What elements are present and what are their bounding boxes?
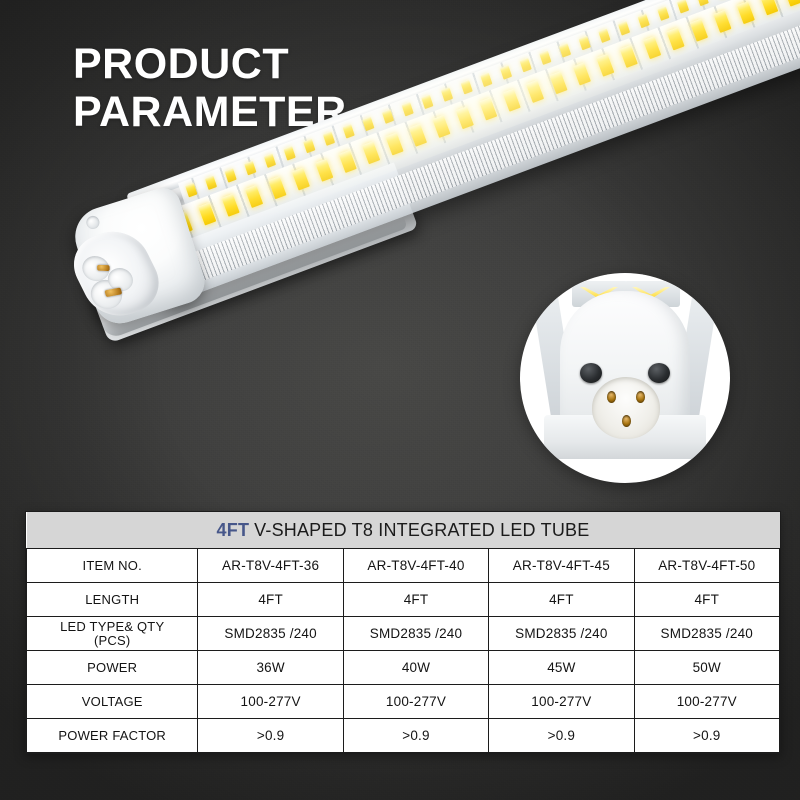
row-value: 4FT (198, 583, 343, 617)
socket-contact-hole (607, 391, 616, 403)
row-label: LED TYPE& QTY (PCS) (27, 617, 198, 651)
row-value: SMD2835 /240 (343, 617, 488, 651)
table-row: POWER 36W 40W 45W 50W (27, 651, 780, 685)
table-row: LENGTH 4FT 4FT 4FT 4FT (27, 583, 780, 617)
table-row: VOLTAGE 100-277V 100-277V 100-277V 100-2… (27, 685, 780, 719)
table-row: POWER FACTOR >0.9 >0.9 >0.9 >0.9 (27, 719, 780, 753)
table-title-cell: 4FTV-SHAPED T8 INTEGRATED LED TUBE (27, 512, 780, 549)
socket-contact-hole (622, 415, 631, 427)
row-value: SMD2835 /240 (489, 617, 634, 651)
row-value: 40W (343, 651, 488, 685)
row-label: VOLTAGE (27, 685, 198, 719)
specification-table: 4FTV-SHAPED T8 INTEGRATED LED TUBE ITEM … (25, 511, 781, 754)
row-label: ITEM NO. (27, 549, 198, 583)
detail-inset-circle (520, 273, 730, 483)
inset-screw (580, 363, 602, 383)
row-value: 100-277V (634, 685, 779, 719)
row-label: LENGTH (27, 583, 198, 617)
row-value: >0.9 (343, 719, 488, 753)
table-row: LED TYPE& QTY (PCS) SMD2835 /240 SMD2835… (27, 617, 780, 651)
inset-screw (648, 363, 670, 383)
row-value: AR-T8V-4FT-45 (489, 549, 634, 583)
row-value: 100-277V (198, 685, 343, 719)
table-row: ITEM NO. AR-T8V-4FT-36 AR-T8V-4FT-40 AR-… (27, 549, 780, 583)
product-parameter-page: PRODUCT PARAMETER (0, 0, 800, 800)
socket-contact-hole (636, 391, 645, 403)
row-value: >0.9 (634, 719, 779, 753)
row-value: SMD2835 /240 (634, 617, 779, 651)
row-value: 36W (198, 651, 343, 685)
led-chip-row (167, 0, 800, 243)
row-value: 100-277V (343, 685, 488, 719)
table-title-accent: 4FT (217, 520, 250, 540)
led-strip-front-row (167, 0, 800, 243)
table-body: 4FTV-SHAPED T8 INTEGRATED LED TUBE ITEM … (27, 512, 780, 753)
connector-pin (97, 265, 110, 271)
row-value: AR-T8V-4FT-36 (198, 549, 343, 583)
row-value: 4FT (343, 583, 488, 617)
row-value: SMD2835 /240 (198, 617, 343, 651)
row-value: AR-T8V-4FT-50 (634, 549, 779, 583)
row-value: 4FT (489, 583, 634, 617)
row-value: >0.9 (198, 719, 343, 753)
row-value: 100-277V (489, 685, 634, 719)
end-cap-dot (85, 214, 101, 230)
row-value: >0.9 (489, 719, 634, 753)
row-label: POWER FACTOR (27, 719, 198, 753)
inset-socket (592, 377, 660, 439)
row-value: AR-T8V-4FT-40 (343, 549, 488, 583)
row-value: 4FT (634, 583, 779, 617)
row-value: 45W (489, 651, 634, 685)
row-value: 50W (634, 651, 779, 685)
row-label: POWER (27, 651, 198, 685)
table-title-row: 4FTV-SHAPED T8 INTEGRATED LED TUBE (27, 512, 780, 549)
table-title-main: V-SHAPED T8 INTEGRATED LED TUBE (254, 520, 589, 540)
